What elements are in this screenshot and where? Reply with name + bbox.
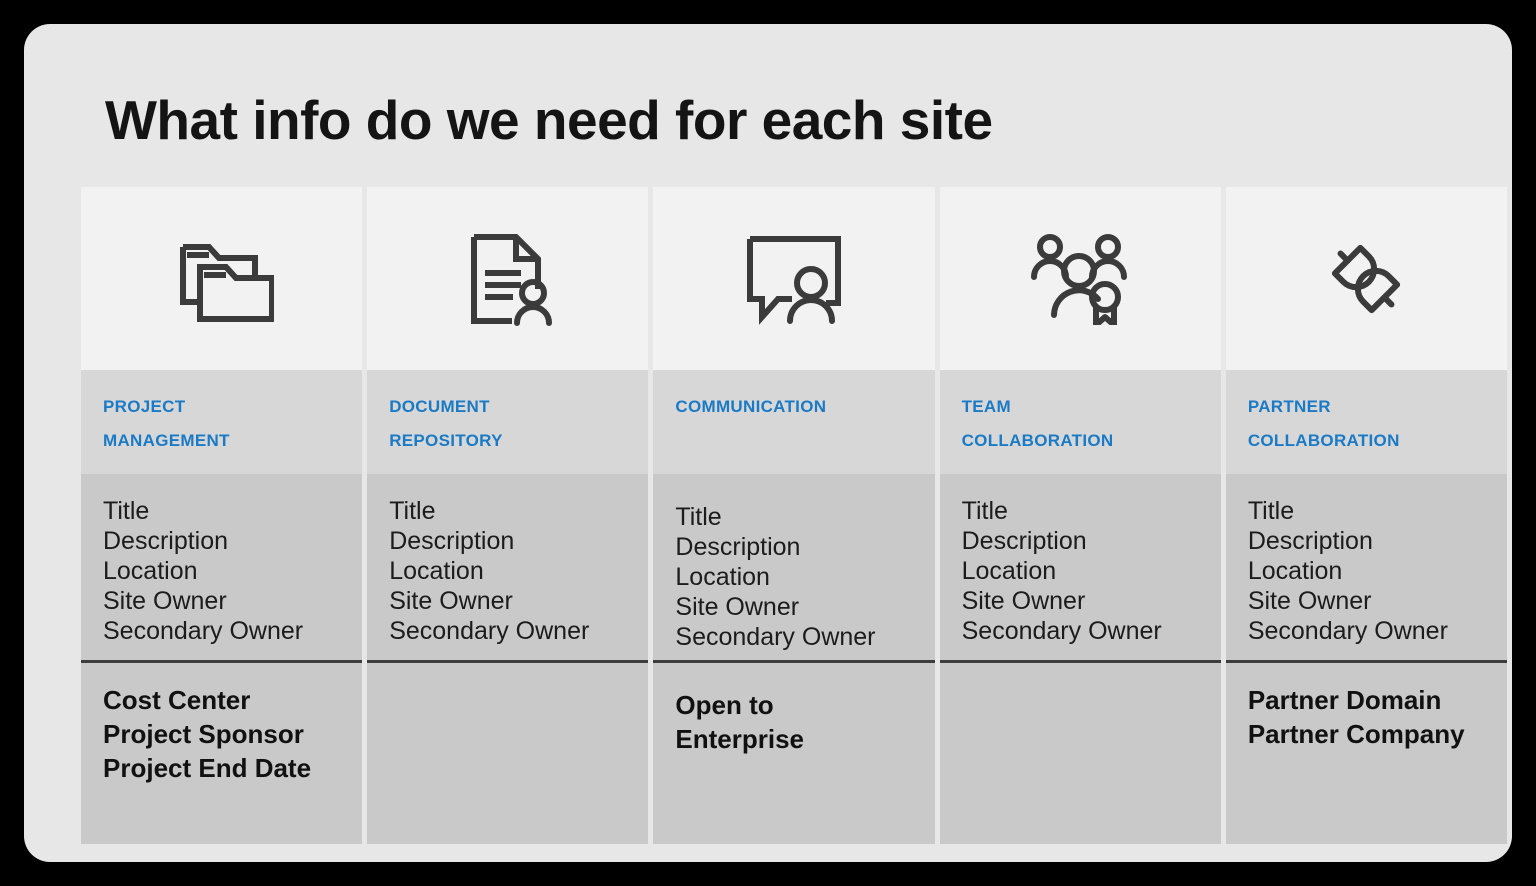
common-fields-list: Title Description Location Site Owner Se… bbox=[81, 474, 362, 663]
common-fields-list: Title Description Location Site Owner Se… bbox=[367, 474, 648, 663]
list-item: Title bbox=[962, 496, 1199, 526]
common-fields-list: Title Description Location Site Owner Se… bbox=[1226, 474, 1507, 663]
list-item: Cost Center bbox=[103, 683, 340, 717]
column-communication[interactable]: Communication Title Description Location… bbox=[653, 187, 934, 844]
icon-cell bbox=[940, 187, 1221, 370]
slide-root: What info do we need for each site bbox=[0, 0, 1536, 886]
list-item: Open to bbox=[675, 688, 912, 722]
list-item: Location bbox=[675, 562, 912, 592]
list-item: Location bbox=[103, 556, 340, 586]
heading-line-1: Communication bbox=[675, 391, 826, 418]
icon-cell bbox=[1226, 187, 1507, 370]
extra-fields-list bbox=[940, 663, 1221, 844]
list-item: Title bbox=[389, 496, 626, 526]
icon-cell bbox=[653, 187, 934, 370]
heading-line-1: Project bbox=[103, 391, 185, 418]
list-item: Location bbox=[1248, 556, 1485, 586]
list-item: Enterprise bbox=[675, 722, 912, 756]
list-item: Secondary Owner bbox=[389, 616, 626, 646]
list-item: Site Owner bbox=[103, 586, 340, 616]
list-item: Title bbox=[675, 502, 912, 532]
plug-connector-icon bbox=[1316, 229, 1416, 329]
list-item: Location bbox=[389, 556, 626, 586]
list-item: Secondary Owner bbox=[103, 616, 340, 646]
extra-fields-list: Cost Center Project Sponsor Project End … bbox=[81, 663, 362, 844]
list-item: Secondary Owner bbox=[675, 622, 912, 652]
list-item: Location bbox=[962, 556, 1199, 586]
list-item: Site Owner bbox=[1248, 586, 1485, 616]
list-item: Description bbox=[103, 526, 340, 556]
chat-person-icon bbox=[744, 233, 844, 325]
heading-line-1: Document bbox=[389, 391, 490, 418]
column-heading: Team Collaboration bbox=[940, 370, 1221, 474]
list-item: Secondary Owner bbox=[1248, 616, 1485, 646]
common-fields-list: Title Description Location Site Owner Se… bbox=[940, 474, 1221, 663]
heading-line-2: Repository bbox=[389, 425, 503, 452]
list-item: Partner Company bbox=[1248, 717, 1485, 751]
column-partner-collaboration[interactable]: Partner Collaboration Title Description … bbox=[1226, 187, 1507, 844]
column-heading: Project Management bbox=[81, 370, 362, 474]
folders-icon bbox=[170, 227, 274, 331]
document-person-icon bbox=[458, 229, 558, 329]
list-item: Title bbox=[103, 496, 340, 526]
list-item: Description bbox=[962, 526, 1199, 556]
list-item: Partner Domain bbox=[1248, 683, 1485, 717]
list-item: Secondary Owner bbox=[962, 616, 1199, 646]
column-team-collaboration[interactable]: Team Collaboration Title Description Loc… bbox=[940, 187, 1221, 844]
page-title: What info do we need for each site bbox=[105, 92, 993, 150]
list-item: Title bbox=[1248, 496, 1485, 526]
list-item: Site Owner bbox=[675, 592, 912, 622]
heading-line-2: Collaboration bbox=[962, 425, 1114, 452]
extra-fields-list bbox=[367, 663, 648, 844]
column-heading: Document Repository bbox=[367, 370, 648, 474]
column-heading: Communication bbox=[653, 370, 934, 474]
common-fields-list: Title Description Location Site Owner Se… bbox=[653, 474, 934, 663]
extra-fields-list: Open to Enterprise bbox=[653, 663, 934, 844]
icon-cell bbox=[81, 187, 362, 370]
list-item: Description bbox=[1248, 526, 1485, 556]
site-info-matrix: Project Management Title Description Loc… bbox=[81, 187, 1507, 844]
list-item: Site Owner bbox=[389, 586, 626, 616]
heading-line-2: Management bbox=[103, 425, 230, 452]
list-item: Project End Date bbox=[103, 751, 340, 785]
heading-line-2: Collaboration bbox=[1248, 425, 1400, 452]
list-item: Site Owner bbox=[962, 586, 1199, 616]
list-item: Description bbox=[675, 532, 912, 562]
list-item: Project Sponsor bbox=[103, 717, 340, 751]
heading-line-1: Team bbox=[962, 391, 1011, 418]
icon-cell bbox=[367, 187, 648, 370]
extra-fields-list: Partner Domain Partner Company bbox=[1226, 663, 1507, 844]
slide-card: What info do we need for each site bbox=[24, 24, 1512, 862]
column-document-repository[interactable]: Document Repository Title Description Lo… bbox=[367, 187, 648, 844]
column-heading: Partner Collaboration bbox=[1226, 370, 1507, 474]
heading-line-1: Partner bbox=[1248, 391, 1331, 418]
list-item: Description bbox=[389, 526, 626, 556]
column-project-management[interactable]: Project Management Title Description Loc… bbox=[81, 187, 362, 844]
team-badge-icon bbox=[1028, 233, 1132, 325]
